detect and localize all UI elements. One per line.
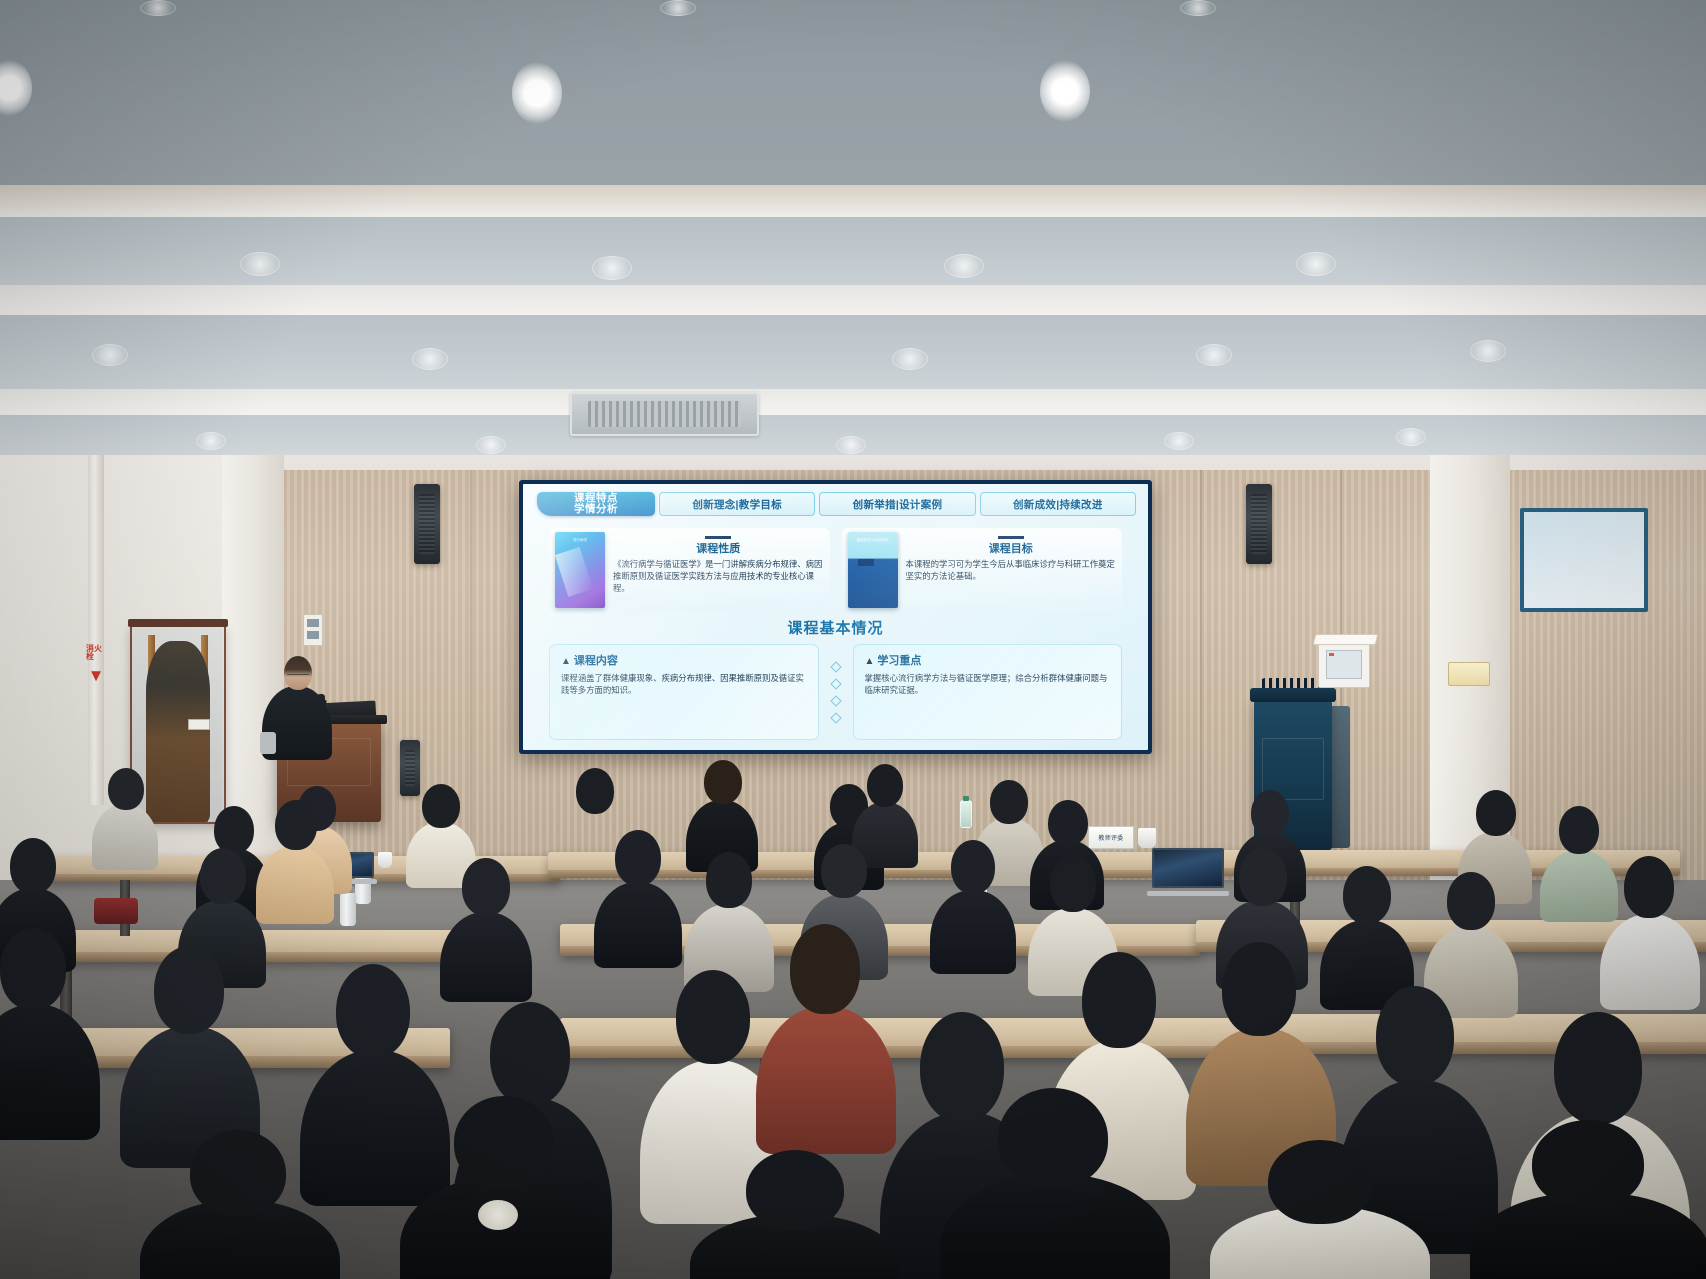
- projection-screen[interactable]: 课程特点 学情分析 创新理念|教学目标 创新举措|设计案例 创新成效|持续改进 …: [519, 480, 1152, 754]
- ceiling-light: [512, 62, 562, 124]
- audience-head: [490, 1002, 570, 1106]
- ceiling-light: [592, 256, 632, 280]
- triangle-bullet-icon: ▲: [865, 656, 875, 667]
- tab-innovation-concept[interactable]: 创新理念|教学目标: [659, 492, 815, 516]
- diamond-icon: [830, 661, 841, 672]
- panel-learning-focus: ▲学习重点 掌握核心流行病学方法与循证医学原理；综合分析群体健康问题与临床研究证…: [853, 644, 1123, 740]
- slide-panel-row: ▲课程内容 课程涵盖了群体健康现象、疾病分布规律、因果推断原则及循证实践等多方面…: [549, 644, 1122, 740]
- diamond-icon: [830, 678, 841, 689]
- ceiling-light: [1040, 60, 1090, 122]
- presenter-head: [284, 656, 312, 690]
- audience-torso: [594, 882, 682, 968]
- audience-head: [1251, 790, 1289, 836]
- ceiling-light: [412, 348, 448, 370]
- vent-louvers: [588, 401, 741, 427]
- control-cabinet-hood: [1313, 634, 1379, 645]
- audience-laptop[interactable]: [1152, 848, 1224, 892]
- audience-head: [1532, 1120, 1644, 1208]
- bottle-cap: [963, 796, 969, 801]
- ceiling-light: [1164, 432, 1194, 450]
- audience-head: [1239, 848, 1287, 906]
- card-body: 本课程的学习可为学生今后从事临床诊疗与科研工作奠定坚实的方法论基础。: [906, 559, 1117, 583]
- audience-head: [1222, 942, 1296, 1036]
- audience-member: [690, 1150, 900, 1279]
- audience-head: [154, 946, 224, 1034]
- audience-torso: [1600, 914, 1700, 1010]
- audience-member: [930, 840, 1016, 970]
- laptop-screen: [1152, 848, 1224, 888]
- ceiling-light: [1196, 344, 1232, 366]
- audience-head: [746, 1150, 844, 1230]
- audience-head: [1082, 952, 1156, 1048]
- panel-course-content: ▲课程内容 课程涵盖了群体健康现象、疾病分布规律、因果推断原则及循证实践等多方面…: [549, 644, 819, 740]
- audience-head: [1376, 986, 1454, 1086]
- card-body: 《流行病学与循证医学》是一门讲解疾病分布规律、病因推断原则及循证医学实践方法与应…: [613, 559, 824, 595]
- display-case-top: [128, 619, 228, 627]
- panel-heading: ▲学习重点: [865, 652, 1111, 668]
- ceiling-light: [1470, 340, 1506, 362]
- audience-member: [92, 768, 158, 868]
- audience-head: [1343, 866, 1391, 924]
- tab-innovation-results[interactable]: 创新成效|持续改进: [980, 492, 1136, 516]
- audience-head: [990, 780, 1028, 824]
- wall-plate-switch[interactable]: [307, 631, 319, 639]
- audience-member: [440, 858, 532, 998]
- card-course-nature: 流行病学 课程性质 《流行病学与循证医学》是一门讲解疾病分布规律、病因推断原则及…: [549, 528, 830, 612]
- fire-sign-text: 消火栓: [86, 645, 106, 661]
- ceiling-light: [892, 348, 928, 370]
- ceiling-light: [240, 252, 280, 276]
- audience-head: [214, 806, 254, 854]
- audience-head: [951, 840, 995, 894]
- wall-sign: [1448, 662, 1490, 686]
- down-arrow-icon: ▼: [88, 667, 105, 684]
- audience-member: [940, 1088, 1170, 1279]
- ceiling-light: [1180, 0, 1216, 16]
- audience-head: [706, 852, 752, 908]
- divider-diamonds: [829, 644, 843, 740]
- lecture-hall-scene: 消火栓 ▼ 课程特点 学情分析 创新: [0, 0, 1706, 1279]
- ceiling-light: [196, 432, 226, 450]
- audience-member: [140, 1130, 340, 1279]
- book-cover-title: 流行病学: [555, 538, 605, 543]
- audience-head: [1447, 872, 1495, 930]
- display-case-tag: [188, 719, 210, 730]
- presentation-slide: 课程特点 学情分析 创新理念|教学目标 创新举措|设计案例 创新成效|持续改进 …: [523, 484, 1148, 750]
- wall-speaker-right: [1246, 484, 1272, 564]
- audience-torso: [940, 1174, 1170, 1279]
- audience-head: [275, 800, 317, 850]
- audience-head: [676, 970, 750, 1064]
- ceiling-dark-panel: [0, 0, 1706, 185]
- wall-control-cabinet[interactable]: [1318, 640, 1370, 688]
- wall-control-plate[interactable]: [303, 614, 323, 646]
- audience-torso: [92, 804, 158, 870]
- audience-member: [1210, 1140, 1430, 1279]
- presenter-sleeve: [260, 732, 276, 754]
- audience-head: [336, 964, 410, 1058]
- card-course-objective: 循证医学与临床研究 课程目标 本课程的学习可为学生今后从事临床诊疗与科研工作奠定…: [842, 528, 1123, 612]
- panel-heading-text: 学习重点: [877, 655, 921, 667]
- handbag: [94, 898, 138, 924]
- ceiling-band-3: [0, 285, 1706, 315]
- audience-head: [867, 764, 903, 807]
- ceiling-band-4: [0, 315, 1706, 389]
- ceiling-light: [476, 436, 506, 454]
- slide-section-title: 课程基本情况: [523, 617, 1148, 638]
- textbook-cover-ebm: 循证医学与临床研究: [848, 532, 898, 608]
- av-rack-side-panel: [1330, 706, 1350, 848]
- ceiling-light: [92, 344, 128, 366]
- audience-torso: [256, 846, 334, 924]
- ceiling-light: [836, 436, 866, 454]
- air-conditioning-vent: [570, 392, 759, 436]
- audience-head: [1050, 856, 1096, 912]
- audience-head: [108, 768, 144, 810]
- wall-seam: [1200, 470, 1202, 870]
- ceiling-light: [944, 254, 984, 278]
- ceiling-light: [140, 0, 176, 16]
- panel-heading-text: 课程内容: [574, 655, 618, 667]
- paper-cup: [1138, 828, 1156, 848]
- card-text-block: 课程目标 本课程的学习可为学生今后从事临床诊疗与科研工作奠定坚实的方法论基础。: [906, 532, 1117, 583]
- triangle-bullet-icon: ▲: [561, 656, 571, 667]
- av-rack-top: [1250, 688, 1336, 702]
- card-heading: 课程性质: [613, 536, 824, 556]
- audience-member: [0, 928, 100, 1138]
- card-text-block: 课程性质 《流行病学与循证医学》是一门讲解疾病分布规律、病因推断原则及循证医学实…: [613, 532, 824, 595]
- audience-head: [10, 838, 56, 894]
- ceiling-band-5: [0, 389, 1706, 415]
- paper-cup: [378, 852, 392, 868]
- wall-speaker-left: [414, 484, 440, 564]
- audience-head: [821, 844, 867, 898]
- book-cover-title: 循证医学与临床研究: [848, 538, 898, 543]
- audience-torso: [440, 912, 532, 1002]
- audience-member: [1470, 1120, 1706, 1279]
- audience-member: [756, 924, 896, 1150]
- panel-body: 掌握核心流行病学方法与循证医学原理；综合分析群体健康问题与临床研究证据。: [865, 672, 1111, 696]
- audience-head: [454, 1096, 554, 1188]
- tab-course-features[interactable]: 课程特点 学情分析: [537, 492, 655, 516]
- tab-label-line2: 学情分析: [574, 504, 618, 515]
- ceiling-light: [1396, 428, 1426, 446]
- audience-member: [400, 1096, 610, 1279]
- audience-head: [422, 784, 460, 828]
- presenter: [262, 648, 332, 758]
- audience-head: [1476, 790, 1516, 836]
- side-window: [1520, 508, 1648, 612]
- ceiling-band-1: [0, 185, 1706, 217]
- audience-torso: [756, 1006, 896, 1154]
- fire-hydrant-sign: 消火栓 ▼: [86, 645, 106, 760]
- audience-torso: [0, 1004, 100, 1140]
- card-heading: 课程目标: [906, 536, 1117, 556]
- audience-head: [576, 768, 614, 814]
- audience-head: [200, 848, 246, 904]
- presenter-glasses-icon: [287, 674, 309, 679]
- panel-heading: ▲课程内容: [561, 652, 807, 668]
- audience-head: [190, 1130, 286, 1216]
- audience-head: [1268, 1140, 1372, 1224]
- audience-head: [1554, 1012, 1642, 1124]
- audience-head: [462, 858, 510, 916]
- ceiling-light: [660, 0, 696, 16]
- textbook-cover-epidemiology: 流行病学: [555, 532, 605, 608]
- audience-torso: [930, 890, 1016, 974]
- audience-member: [594, 830, 682, 964]
- wall-plate-switch[interactable]: [307, 619, 319, 627]
- audience-head: [0, 928, 66, 1010]
- audience-head: [1048, 800, 1088, 846]
- audience-head: [615, 830, 661, 886]
- slide-tab-bar: 课程特点 学情分析 创新理念|教学目标 创新举措|设计案例 创新成效|持续改进: [537, 492, 1136, 516]
- tab-innovation-measures[interactable]: 创新举措|设计案例: [819, 492, 975, 516]
- audience-member: [1600, 856, 1700, 1006]
- audience-head: [704, 760, 742, 804]
- audience-head: [790, 924, 860, 1014]
- audience-head: [1624, 856, 1674, 918]
- status-led-icon: [1329, 653, 1334, 656]
- ceiling-light: [1296, 252, 1336, 276]
- thermos-flask: [340, 892, 356, 926]
- hair-clip-icon: [478, 1200, 518, 1230]
- slide-card-row: 流行病学 课程性质 《流行病学与循证医学》是一门讲解疾病分布规律、病因推断原则及…: [549, 528, 1122, 612]
- audience-head: [1559, 806, 1599, 854]
- audience-member: [256, 800, 334, 920]
- panel-body: 课程涵盖了群体健康现象、疾病分布规律、因果推断原则及循证实践等多方面的知识。: [561, 672, 807, 696]
- diamond-icon: [830, 712, 841, 723]
- water-bottle: [960, 800, 972, 828]
- audience-head: [998, 1088, 1108, 1188]
- diamond-icon: [830, 695, 841, 706]
